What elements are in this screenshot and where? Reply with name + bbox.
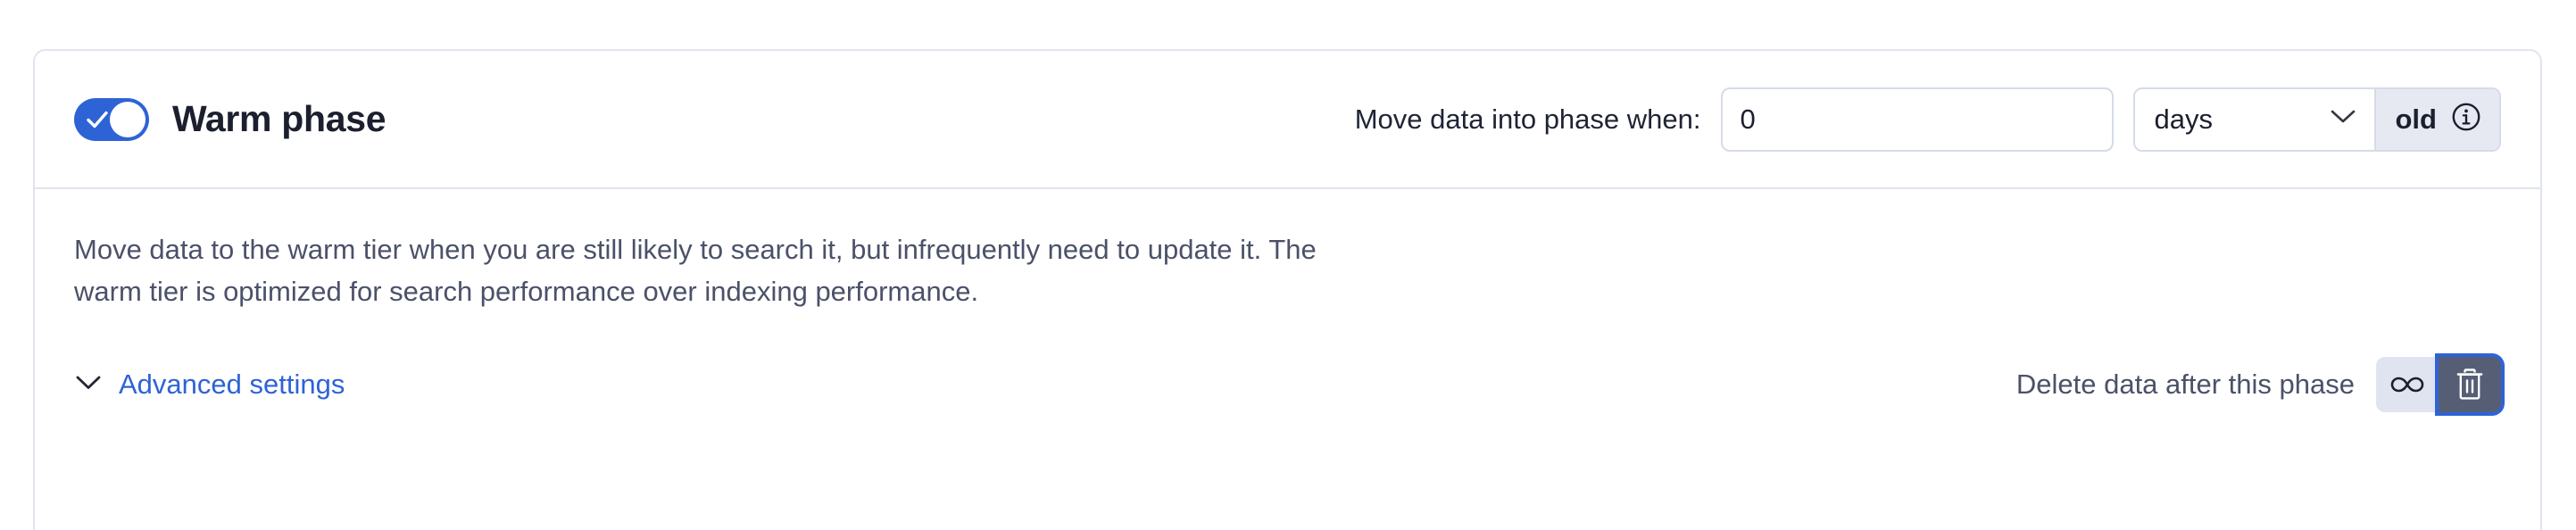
trash-icon — [2455, 369, 2485, 401]
phase-header-left: Warm phase — [74, 68, 386, 170]
chevron-down-icon — [2330, 109, 2356, 129]
chevron-down-icon — [74, 374, 103, 396]
warm-phase-toggle[interactable] — [74, 98, 149, 141]
delete-data-button[interactable] — [2439, 357, 2501, 412]
infinity-icon — [2389, 374, 2426, 395]
min-age-input[interactable] — [1721, 87, 2114, 152]
delete-phase-control: Delete data after this phase — [2016, 357, 2501, 412]
min-age-suffix: old — [2396, 104, 2438, 136]
check-icon — [87, 110, 108, 129]
min-age-unit-select[interactable]: days — [2135, 89, 2374, 150]
phase-header: Warm phase Move data into phase when: da… — [35, 51, 2540, 189]
info-circle-icon[interactable] — [2451, 102, 2481, 137]
min-age-control: Move data into phase when: days old — [1355, 87, 2501, 152]
delete-phase-button-group — [2376, 357, 2501, 412]
min-age-unit-value: days — [2155, 104, 2213, 136]
min-age-unit-group: days old — [2133, 87, 2502, 152]
advanced-settings-toggle[interactable]: Advanced settings — [74, 369, 345, 401]
keep-data-forever-button[interactable] — [2376, 357, 2439, 412]
min-age-label: Move data into phase when: — [1355, 104, 1701, 136]
delete-phase-label: Delete data after this phase — [2016, 369, 2355, 401]
min-age-append: old — [2374, 89, 2500, 150]
ilm-phase-screen: Warm phase Move data into phase when: da… — [0, 0, 2576, 530]
phase-body-footer: Advanced settings Delete data after this… — [74, 353, 2501, 416]
advanced-settings-label: Advanced settings — [119, 369, 345, 401]
warm-phase-card: Warm phase Move data into phase when: da… — [33, 49, 2542, 530]
phase-description: Move data to the warm tier when you are … — [74, 228, 1342, 312]
page-title: Warm phase — [172, 98, 386, 140]
toggle-knob — [110, 102, 145, 137]
phase-body: Move data to the warm tier when you are … — [35, 189, 2540, 416]
